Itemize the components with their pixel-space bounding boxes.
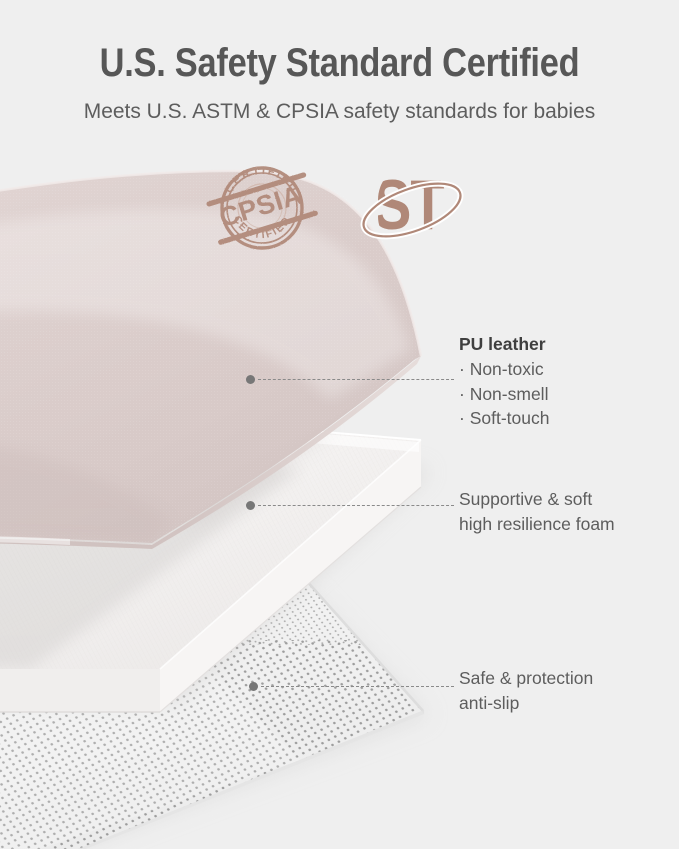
callout-foam-line-1: Supportive & soft — [459, 487, 615, 512]
callout-pu-leather-line-2: · Non-smell — [459, 382, 549, 407]
callout-foam-line-2: high resilience foam — [459, 512, 615, 537]
header: U.S. Safety Standard Certified Meets U.S… — [0, 0, 679, 123]
callouts: PU leather · Non-toxic · Non-smell · Sof… — [0, 0, 679, 849]
page-subtitle: Meets U.S. ASTM & CPSIA safety standards… — [8, 83, 670, 123]
callout-anti-slip: Safe & protection anti-slip — [459, 666, 593, 715]
callout-pu-leather-line-1: · Non-toxic — [459, 357, 549, 382]
callout-pu-leather-line-3: · Soft-touch — [459, 406, 549, 431]
callout-anti-slip-line-2: anti-slip — [459, 691, 593, 716]
leader-dot-anti-slip — [249, 682, 258, 691]
leader-dash-pu-leather — [258, 379, 454, 380]
leader-dot-pu-leather — [246, 375, 255, 384]
leader-dash-anti-slip — [261, 686, 454, 687]
callout-foam: Supportive & soft high resilience foam — [459, 487, 615, 536]
callout-pu-leather-heading: PU leather — [459, 332, 549, 357]
leader-dash-foam — [258, 505, 454, 506]
leader-line-foam — [246, 499, 454, 511]
callout-pu-leather: PU leather · Non-toxic · Non-smell · Sof… — [459, 332, 549, 431]
callout-anti-slip-line-1: Safe & protection — [459, 666, 593, 691]
page-title: U.S. Safety Standard Certified — [48, 0, 632, 83]
product-layer-infographic: U.S. Safety Standard Certified Meets U.S… — [0, 0, 679, 849]
leader-line-pu-leather — [246, 373, 454, 385]
leader-dot-foam — [246, 501, 255, 510]
leader-line-anti-slip — [249, 680, 454, 692]
